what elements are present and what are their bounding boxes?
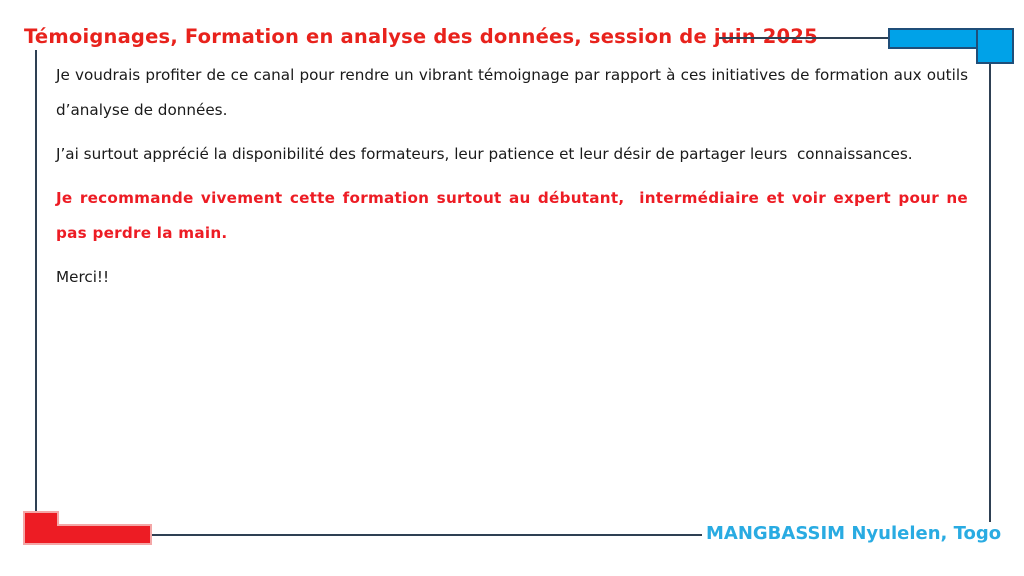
blue-corner-square-shape	[976, 28, 1014, 64]
page-title: Témoignages, Formation en analyse des do…	[24, 25, 714, 49]
slide-canvas: Témoignages, Formation en analyse des do…	[0, 0, 1024, 576]
title-connector-line	[719, 37, 891, 39]
paragraph-testimonial-intro: Je voudrais profiter de ce canal pour re…	[56, 58, 968, 128]
red-corner-square-shape	[23, 511, 59, 545]
paragraph-testimonial-recommendation: Je recommande vivement cette formation s…	[56, 181, 968, 251]
blue-corner-bar-shape	[888, 28, 978, 49]
left-vertical-rule	[35, 50, 37, 513]
right-vertical-rule	[989, 61, 991, 522]
footer-connector-line	[150, 534, 702, 536]
paragraph-testimonial-appreciation: J’ai surtout apprécié la disponibilité d…	[56, 137, 968, 172]
paragraph-testimonial-thanks: Merci!!	[56, 260, 968, 295]
testimonial-body: Je voudrais profiter de ce canal pour re…	[56, 58, 968, 295]
red-corner-bar-shape	[57, 524, 152, 545]
author-signature: MANGBASSIM Nyulelen, Togo	[706, 522, 1006, 546]
